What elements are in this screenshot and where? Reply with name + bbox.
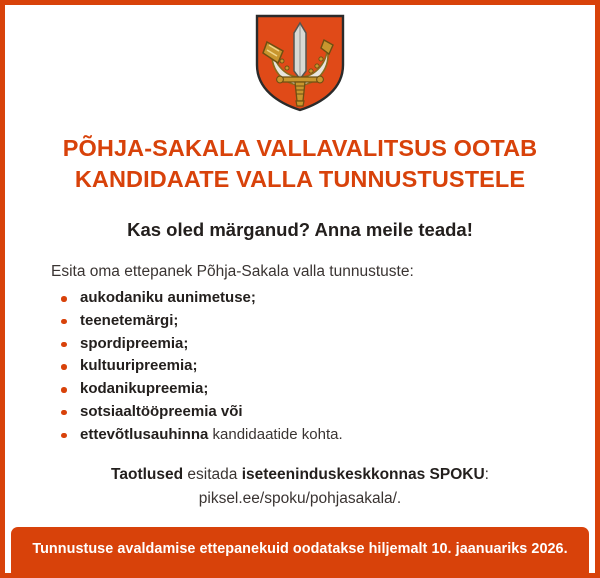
list-item: ettevõtlusauhinna kandidaatide kohta. [51,424,555,447]
bullet-dot-icon [61,364,67,370]
bullet-dot-icon [61,387,67,393]
subtitle: Kas oled märganud? Anna meile teada! [35,219,565,241]
apply-prefix: Taotlused [111,466,183,483]
apply-info: Taotlused esitada iseteeninduskeskkonnas… [45,463,555,511]
award-label: spordipreemia; [80,335,188,352]
deadline-banner: Tunnustuse avaldamise ettepanekuid oodat… [11,527,589,578]
announcement-poster: PÕHJA-SAKALA VALLAVALITSUS OOTAB KANDIDA… [0,0,600,578]
award-label: kultuuripreemia; [80,357,198,374]
award-label: sotsiaaltööpreemia või [80,403,243,420]
bullet-dot-icon [61,433,67,439]
awards-list: aukodaniku aunimetuse; teenetemärgi; spo… [51,287,555,447]
apply-middle: esitada [183,466,242,483]
bullet-dot-icon [61,410,67,416]
body-block: Esita oma ettepanek Põhja-Sakala valla t… [51,263,555,447]
page-title: PÕHJA-SAKALA VALLAVALITSUS OOTAB KANDIDA… [35,133,565,196]
bullet-dot-icon [61,296,67,302]
award-label: aukodaniku aunimetuse; [80,289,256,306]
list-item: kodanikupreemia; [51,378,555,401]
deadline-text: Tunnustuse avaldamise ettepanekuid oodat… [32,541,567,557]
award-tail: kandidaatide kohta. [208,426,342,443]
apply-url[interactable]: piksel.ee/spoku/pohjasakala/. [45,487,555,511]
title-line-2: KANDIDAATE VALLA TUNNUSTUSTELE [35,164,565,195]
list-item: kultuuripreemia; [51,355,555,378]
title-line-1: PÕHJA-SAKALA VALLAVALITSUS OOTAB [63,135,538,161]
intro-text: Esita oma ettepanek Põhja-Sakala valla t… [51,263,555,281]
apply-instruction: Taotlused esitada iseteeninduskeskkonnas… [45,463,555,487]
coat-of-arms [5,13,595,117]
list-item: sotsiaaltööpreemia või [51,401,555,424]
award-label: teenetemärgi; [80,312,178,329]
award-label: kodanikupreemia; [80,380,208,397]
shield-icon [254,13,346,113]
apply-suffix: : [485,466,489,483]
list-item: aukodaniku aunimetuse; [51,287,555,310]
award-label: ettevõtlusauhinna [80,426,208,443]
bullet-dot-icon [61,319,67,325]
list-item: teenetemärgi; [51,310,555,333]
bullet-dot-icon [61,342,67,348]
apply-channel: iseteeninduskeskkonnas SPOKU [242,466,485,483]
list-item: spordipreemia; [51,333,555,356]
